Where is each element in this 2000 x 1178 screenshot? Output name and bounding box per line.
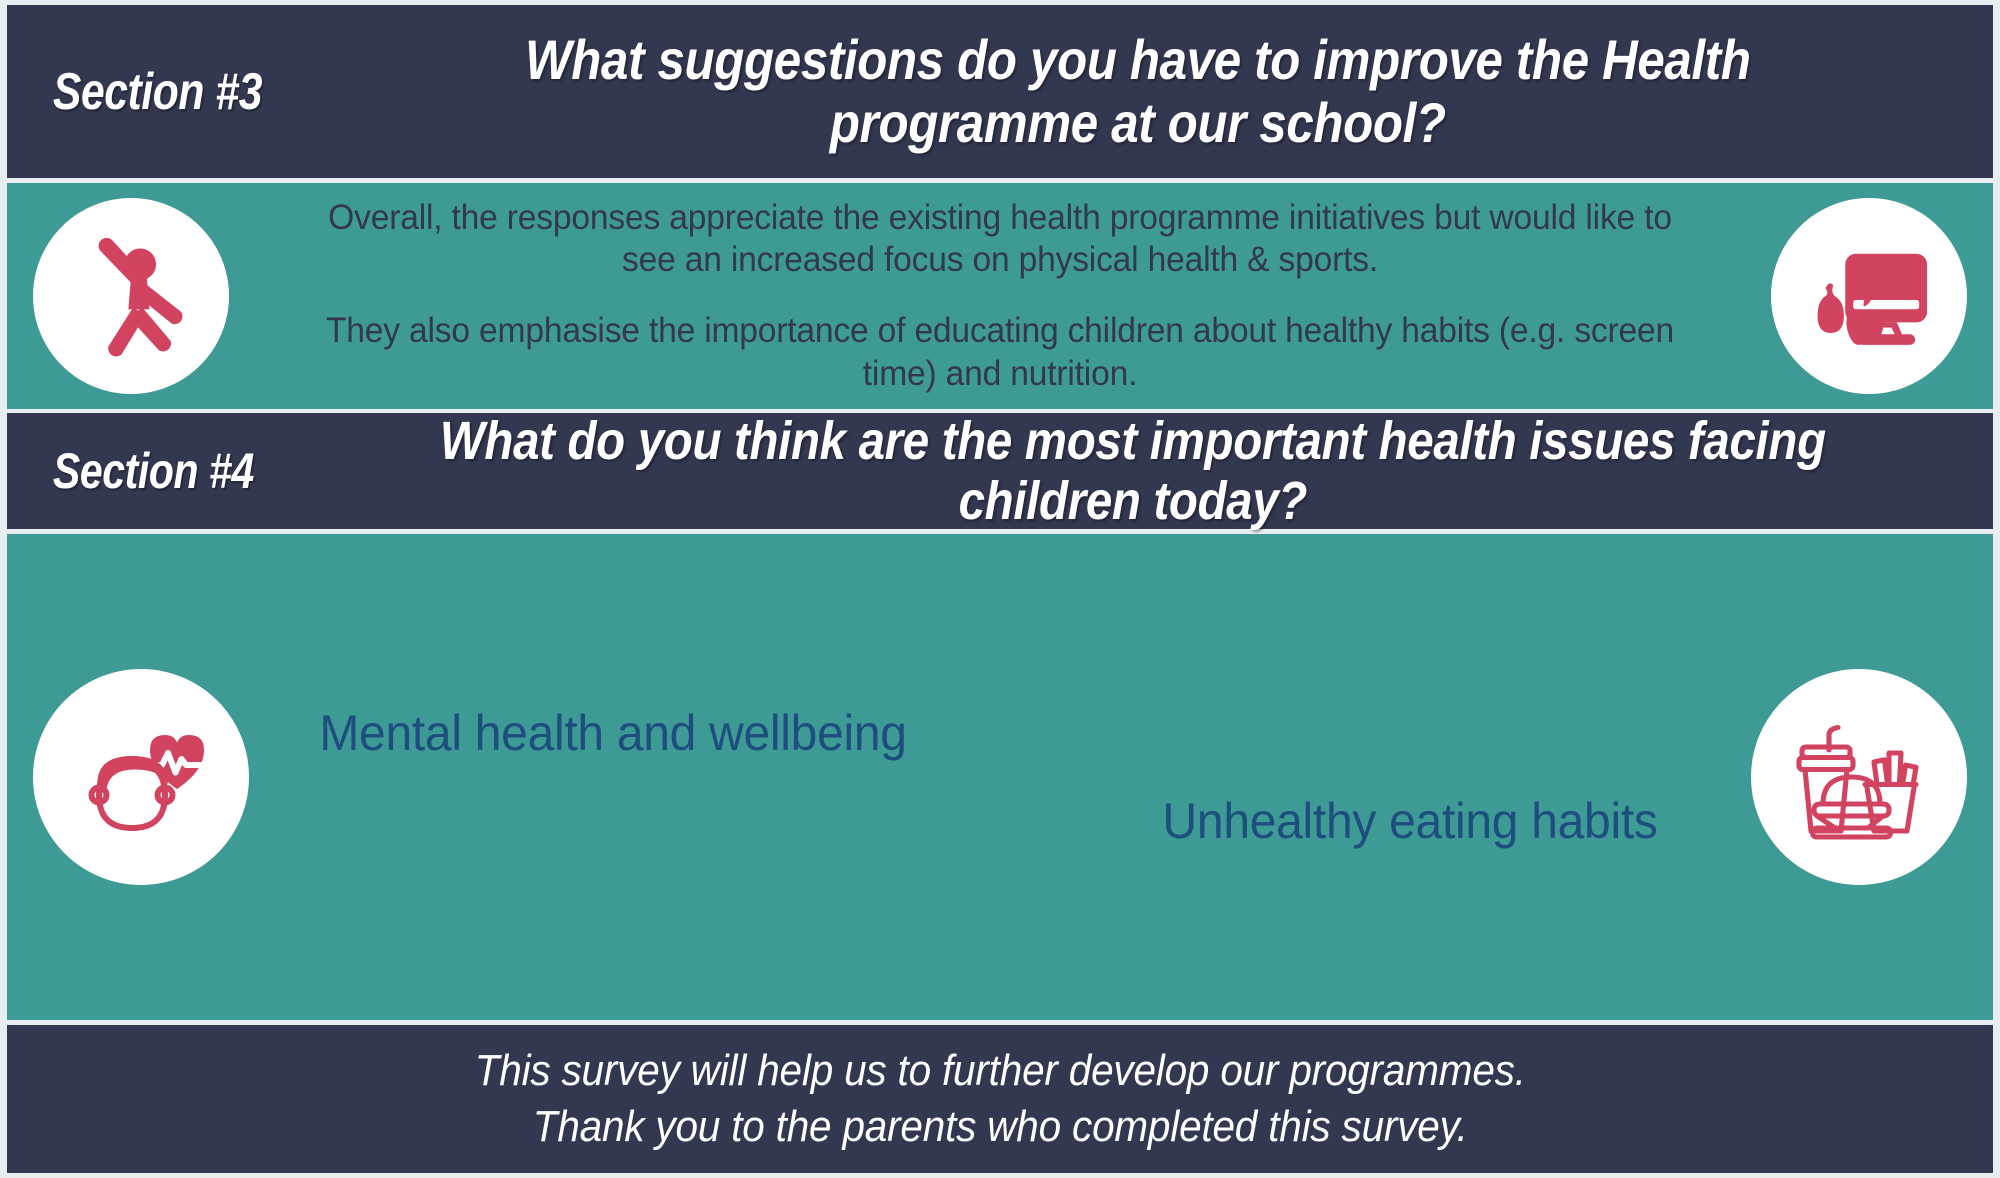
exercise-icon-circle [33, 198, 229, 394]
screen-time-fruit-icon-circle [1771, 198, 1967, 394]
section-3-paragraph-2: They also emphasise the importance of ed… [306, 310, 1694, 395]
section-3-left-icon-slot [7, 198, 255, 394]
section-3-paragraphs: Overall, the responses appreciate the ex… [255, 197, 1745, 396]
section-3-paragraph-1: Overall, the responses appreciate the ex… [306, 197, 1694, 282]
section-4-question: What do you think are the most important… [409, 411, 1892, 532]
fast-food-meal-icon [1784, 702, 1934, 852]
section-4-content-panel: Mental health and wellbeing Unhealthy ea… [7, 534, 1993, 1020]
mental-health-icon-circle [33, 669, 249, 885]
screen-time-and-fruit-icon [1803, 230, 1935, 362]
section-3-tag: Section #3 [7, 62, 262, 122]
footer-band: This survey will help us to further deve… [7, 1025, 1993, 1173]
section-3-question: What suggestions do you have to improve … [419, 29, 1893, 154]
section-3-header-band: Section #3 What suggestions do you have … [7, 5, 1993, 178]
section-4-right-icon-slot [1725, 669, 1993, 885]
footer-line-2: Thank you to the parents who completed t… [474, 1099, 1525, 1155]
fast-food-icon-circle [1751, 669, 1967, 885]
section-3-content-panel: Overall, the responses appreciate the ex… [7, 183, 1993, 409]
section-4-answers: Mental health and wellbeing Unhealthy ea… [275, 702, 1725, 853]
exercise-stretching-figure-icon [65, 230, 197, 362]
mental-health-head-heart-icon [66, 702, 216, 852]
footer-line-1: This survey will help us to further deve… [474, 1043, 1525, 1099]
section-4-tag: Section #4 [7, 442, 254, 500]
section-4-answer-2: Unhealthy eating habits [314, 790, 1687, 853]
footer-message: This survey will help us to further deve… [474, 1043, 1525, 1156]
section-4-left-icon-slot [7, 669, 275, 885]
section-3-right-icon-slot [1745, 198, 1993, 394]
section-4-header-band: Section #4 What do you think are the mos… [7, 413, 1993, 529]
infographic-board: Section #3 What suggestions do you have … [0, 0, 2000, 1178]
section-4-answer-1: Mental health and wellbeing [314, 702, 1687, 765]
